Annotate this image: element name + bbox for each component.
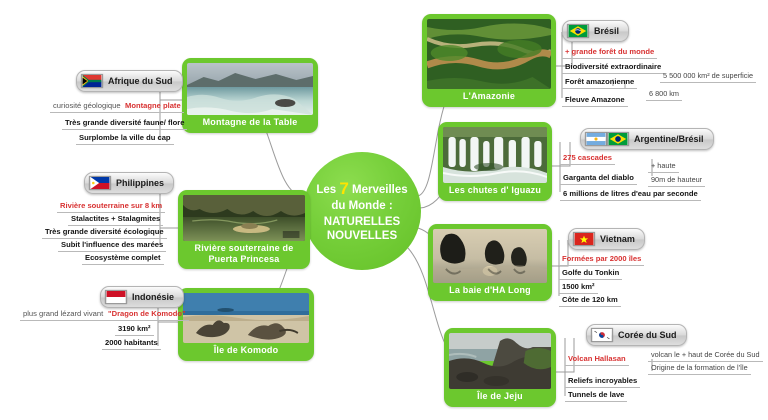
note-coree-1: volcan le + haut de Corée du Sud [648, 349, 763, 362]
note-coree-0: Volcan Hallasan [565, 353, 629, 366]
note-philippines-2: Très grande diversité écologique [42, 226, 167, 239]
note-bresil-2: Forêt amazonienne [562, 76, 637, 89]
pill-label-argentine-bresil: Argentine/Brésil [634, 134, 704, 144]
photo-ile-de-komodo [183, 293, 309, 343]
note-philippines-3: Subit l'influence des marées [58, 239, 166, 252]
note-iguazu-4: 6 millions de litres d'eau par seconde [560, 188, 701, 201]
photo-montagne-de-la-table [187, 63, 313, 115]
pill-afrique-du-sud[interactable]: Afrique du Sud [76, 70, 183, 92]
pill-argentine-bresil[interactable]: Argentine/Brésil [580, 128, 714, 150]
central-line-2: du Monde : [331, 199, 392, 213]
pill-bresil[interactable]: Brésil [562, 20, 629, 42]
note-vietnam-0: Formées par 2000 îles [559, 253, 644, 266]
note-vietnam-2: 1500 km² [559, 281, 598, 294]
flag-brazil-icon-2 [607, 132, 629, 146]
photo-ile-de-jeju [449, 333, 551, 389]
note-philippines-0: Rivière souterraine sur 8 km [57, 200, 165, 213]
note-bresil-5: 6 800 km [646, 88, 682, 101]
note-indonesie-1: "Dragon de Komodo" [105, 308, 189, 321]
caption-riviere-line-2: Puerta Princesa [195, 254, 294, 265]
caption-ile-de-jeju: Île de Jeju [475, 389, 525, 405]
flag-philippines-icon [89, 176, 111, 190]
note-coree-3: Reliefs incroyables [565, 375, 640, 388]
pill-label-vietnam: Vietnam [600, 234, 635, 244]
note-coree-4: Tunnels de lave [565, 389, 627, 402]
photo-riviere-souterraine [183, 195, 305, 241]
note-bresil-3: 5 500 000 km² de superficie [660, 70, 756, 83]
central-line-4: NOUVELLES [327, 229, 397, 243]
note-bresil-4: Fleuve Amazone [562, 94, 628, 107]
pill-philippines[interactable]: Philippines [84, 172, 174, 194]
flag-argentina-icon [585, 132, 607, 146]
pill-vietnam[interactable]: Vietnam [568, 228, 645, 250]
caption-la-baie-d-ha-long: La baie d'HA Long [447, 283, 533, 299]
caption-ile-de-komodo: Île de Komodo [212, 343, 281, 359]
flag-south-korea-icon [591, 328, 613, 342]
photo-la-baie-d-ha-long [433, 229, 547, 283]
central-line-3: NATURELLES [324, 215, 400, 229]
flag-argentina-brazil-icon [585, 132, 629, 146]
caption-l-amazonie: L'Amazonie [461, 89, 517, 105]
mindmap-canvas: Les 7 Merveilles du Monde : NATURELLES N… [0, 0, 768, 420]
note-bresil-0: + grande forêt du monde [562, 46, 657, 59]
card-la-baie-d-ha-long[interactable]: La baie d'HA Long [428, 224, 552, 301]
pill-label-bresil: Brésil [594, 26, 619, 36]
central-merveilles: Merveilles [352, 184, 408, 196]
note-iguazu-0: 275 cascades [560, 152, 615, 165]
pill-label-coree-du-sud: Corée du Sud [618, 330, 677, 340]
card-ile-de-jeju[interactable]: Île de Jeju [444, 328, 556, 407]
central-les: Les [316, 184, 336, 196]
card-l-amazonie[interactable]: L'Amazonie [422, 14, 556, 107]
photo-les-chutes-d-iguazu [443, 127, 547, 183]
note-philippines-4: Ecosystème complet [82, 252, 164, 265]
note-iguazu-2: + haute [648, 160, 679, 173]
caption-les-chutes-d-iguazu: Les chutes d' Iguazu [447, 183, 543, 199]
caption-riviere-line-1: Rivière souterraine de [195, 243, 294, 254]
note-afrique-2: Très grande diversité faune/ flore [62, 117, 187, 130]
note-indonesie-2: 3190 km² [115, 323, 154, 336]
note-afrique-3: Surplombe la ville du cap [76, 132, 174, 145]
central-line-1: Les 7 Merveilles [316, 179, 407, 200]
pill-label-indonesie: Indonésie [132, 292, 174, 302]
flag-south-africa-icon [81, 74, 103, 88]
note-afrique-1: Montagne plate [122, 100, 184, 113]
flag-indonesia-icon [105, 290, 127, 304]
note-afrique-0: curiosité géologique [50, 100, 124, 113]
central-topic[interactable]: Les 7 Merveilles du Monde : NATURELLES N… [303, 152, 421, 270]
note-vietnam-3: Côte de 120 km [559, 294, 621, 307]
flag-brazil-icon [567, 24, 589, 38]
pill-coree-du-sud[interactable]: Corée du Sud [586, 324, 687, 346]
note-indonesie-3: 2000 habitants [102, 337, 161, 350]
central-seven: 7 [339, 179, 348, 198]
note-bresil-1: Biodiversité extraordinaire [562, 61, 664, 74]
pill-indonesie[interactable]: Indonésie [100, 286, 184, 308]
photo-l-amazonie [427, 19, 551, 89]
card-les-chutes-d-iguazu[interactable]: Les chutes d' Iguazu [438, 122, 552, 201]
note-coree-2: Origine de la formation de l'île [648, 362, 751, 375]
caption-montagne-de-la-table: Montagne de la Table [201, 115, 300, 131]
card-montagne-de-la-table[interactable]: Montagne de la Table [182, 58, 318, 133]
note-iguazu-3: 90m de hauteur [648, 174, 705, 187]
note-indonesie-0: plus grand lézard vivant [20, 308, 106, 321]
note-iguazu-1: Garganta del diablo [560, 172, 637, 185]
flag-vietnam-icon [573, 232, 595, 246]
note-philippines-1: Stalactites + Stalagmites [68, 213, 163, 226]
caption-riviere-souterraine: Rivière souterraine de Puerta Princesa [193, 241, 296, 267]
pill-label-afrique-du-sud: Afrique du Sud [108, 76, 173, 86]
card-ile-de-komodo[interactable]: Île de Komodo [178, 288, 314, 361]
pill-label-philippines: Philippines [116, 178, 164, 188]
card-riviere-souterraine[interactable]: Rivière souterraine de Puerta Princesa [178, 190, 310, 269]
note-vietnam-1: Golfe du Tonkin [559, 267, 622, 280]
